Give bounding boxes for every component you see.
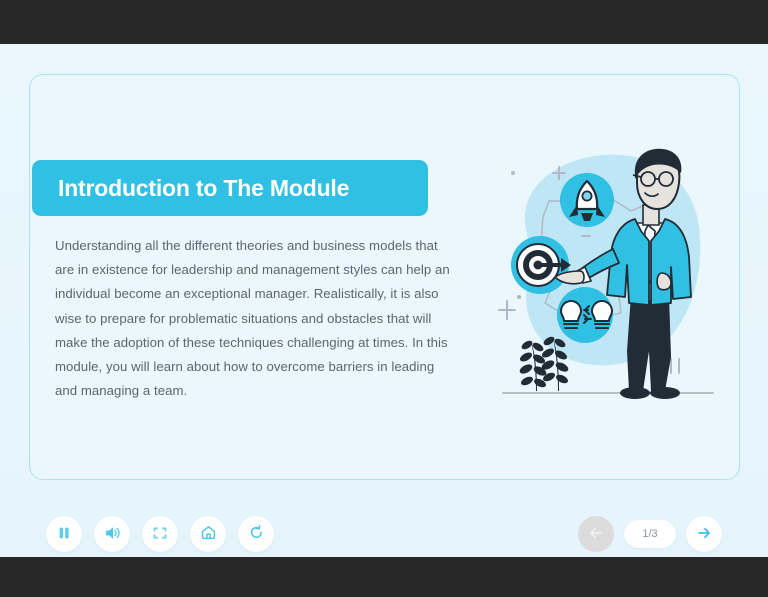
home-icon	[200, 524, 217, 544]
rocket-icon	[560, 173, 614, 227]
slide-title-banner: Introduction to The Module	[32, 160, 428, 216]
top-bar	[0, 0, 768, 44]
plant-decoration	[518, 335, 570, 391]
pause-button[interactable]	[46, 516, 82, 552]
page-indicator-label: 1/3	[642, 528, 657, 540]
pause-icon	[56, 525, 72, 544]
fullscreen-button[interactable]	[142, 516, 178, 552]
page-indicator: 1/3	[624, 520, 676, 548]
replay-button[interactable]	[238, 516, 274, 552]
arrow-right-icon	[696, 525, 712, 544]
home-button[interactable]	[190, 516, 226, 552]
next-slide-button[interactable]	[686, 516, 722, 552]
slide-stage: Introduction to The Module Understanding…	[0, 44, 768, 557]
arrow-left-icon	[588, 525, 604, 544]
page-title: Introduction to The Module	[32, 175, 349, 202]
bottom-bar	[0, 557, 768, 597]
illustration	[485, 145, 730, 417]
slide-body-text: Understanding all the different theories…	[55, 234, 451, 403]
slide-navigation: 1/3	[578, 516, 722, 552]
lightbulb-exchange-icon	[557, 287, 613, 343]
volume-icon	[103, 524, 121, 545]
content-card: Introduction to The Module Understanding…	[29, 74, 740, 480]
playback-controls	[46, 516, 274, 552]
player-viewport: Introduction to The Module Understanding…	[0, 0, 768, 597]
fullscreen-icon	[152, 525, 168, 544]
volume-button[interactable]	[94, 516, 130, 552]
previous-slide-button[interactable]	[578, 516, 614, 552]
replay-icon	[248, 524, 265, 544]
